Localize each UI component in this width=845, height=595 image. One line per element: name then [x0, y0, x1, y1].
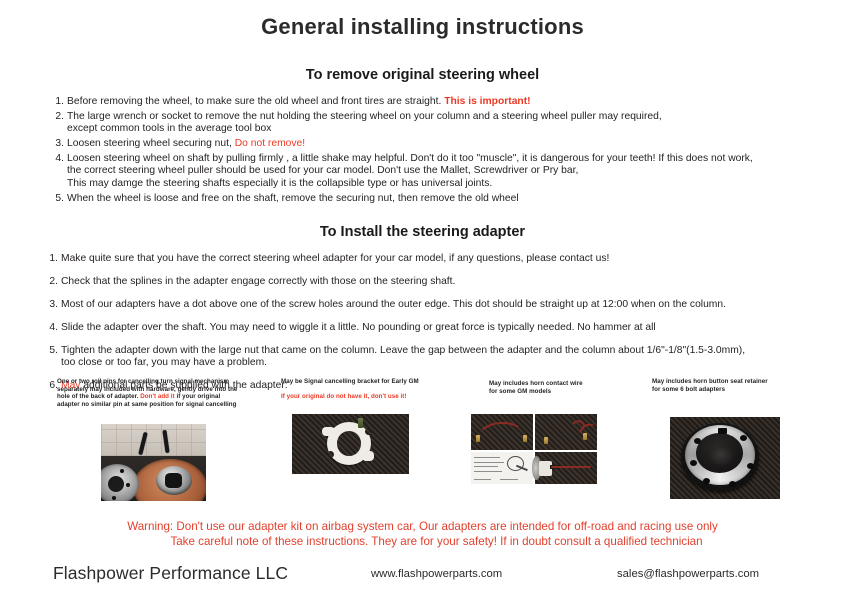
emphasis-text: If your original do not have it, don't u… — [281, 393, 406, 400]
page-title: General installing instructions — [0, 0, 845, 40]
caption-horn-contact-wire: May includes horn contact wirefor some G… — [489, 380, 669, 395]
desk-surface — [101, 424, 206, 456]
footer: Flashpower Performance LLC www.flashpowe… — [0, 563, 845, 593]
photo-quadrant — [535, 452, 597, 484]
instruction-card — [471, 452, 533, 484]
retainer-slot — [718, 428, 727, 434]
list-item: 3.Most of our adapters have a dot above … — [44, 299, 805, 311]
remove-wheel-steps: 1.Before removing the wheel, to make sur… — [50, 96, 805, 205]
list-number: 5. — [44, 345, 58, 357]
emphasis-text: Don't add it — [140, 393, 176, 400]
photo-quadrant — [535, 414, 597, 450]
wire-terminal — [544, 437, 548, 444]
bracket-tab — [322, 427, 335, 436]
email-link[interactable]: sales@flashpowerparts.com — [617, 568, 759, 580]
panel-roll-pins: One or two roll pins for cancelling turn… — [57, 378, 272, 408]
bolt-hole — [747, 463, 754, 469]
list-number: 3. — [44, 299, 58, 311]
list-number: 4. — [44, 322, 58, 334]
panel-horn-contact-wire: May includes horn contact wirefor some G… — [489, 380, 669, 395]
wire-terminal — [583, 433, 587, 440]
warning-line-2: Take careful note of these instructions.… — [0, 534, 845, 549]
bracket-tab — [362, 451, 374, 461]
bolt-hole — [690, 460, 697, 466]
parts-panels: One or two roll pins for cancelling turn… — [0, 376, 845, 511]
list-number: 3. — [50, 138, 64, 150]
list-number: 1. — [50, 96, 64, 108]
instruction-sheet: General installing instructions To remov… — [0, 0, 845, 595]
section-heading-remove-wheel: To remove original steering wheel — [0, 40, 845, 83]
company-name: Flashpower Performance LLC — [53, 563, 288, 584]
list-item: 5.When the wheel is loose and free on th… — [50, 193, 805, 205]
adapter-flange — [101, 464, 139, 501]
list-number: 5. — [50, 193, 64, 205]
list-item: 4.Loosen steering wheel on shaft by pull… — [50, 153, 805, 189]
photo-quadrant — [471, 414, 533, 450]
safety-warning: Warning: Don't use our adapter kit on ai… — [0, 519, 845, 549]
wire-terminal — [476, 435, 480, 442]
adapter-hub — [156, 466, 192, 495]
list-item: 1.Before removing the wheel, to make sur… — [50, 96, 805, 108]
bracket-hole — [365, 428, 372, 435]
emphasis-text: This is important! — [444, 96, 530, 107]
red-wire — [551, 466, 591, 468]
caption-horn-button-seat-retainer: May includes horn button seat retainerfo… — [652, 378, 842, 393]
list-number: 2. — [44, 276, 58, 288]
bolt-hole — [703, 478, 710, 484]
caption-signal-bracket: May be Signal cancelling bracket for Ear… — [281, 378, 471, 401]
list-number: 1. — [44, 253, 58, 265]
bracket-screw — [358, 418, 363, 428]
caption-roll-pins: One or two roll pins for cancelling turn… — [57, 378, 272, 408]
photo-signal-cancelling-bracket — [292, 414, 409, 474]
panel-signal-bracket: May be Signal cancelling bracket for Ear… — [281, 378, 471, 401]
photo-roll-pins-and-adapters — [101, 424, 206, 501]
install-adapter-steps: 1.Make quite sure that you have the corr… — [44, 253, 805, 393]
list-item: 2.Check that the splines in the adapter … — [44, 276, 805, 288]
emphasis-text: Do not remove! — [235, 138, 305, 149]
retainer-center-boss — [710, 447, 733, 465]
list-item: 2.The large wrench or socket to remove t… — [50, 111, 805, 135]
list-number: 4. — [50, 153, 64, 165]
website-link[interactable]: www.flashpowerparts.com — [371, 568, 502, 580]
photo-horn-button-seat-retainer — [667, 414, 783, 502]
red-wire — [476, 420, 526, 453]
section-heading-install-adapter: To Install the steering adapter — [0, 208, 845, 240]
list-item: 3.Loosen steering wheel securing nut, Do… — [50, 138, 805, 150]
warning-line-1: Warning: Don't use our adapter kit on ai… — [0, 519, 845, 534]
list-number: 2. — [50, 111, 64, 123]
list-item: 1.Make quite sure that you have the corr… — [44, 253, 805, 265]
list-item: 5.Tighten the adapter down with the larg… — [44, 345, 805, 369]
panel-horn-button-seat-retainer: May includes horn button seat retainerfo… — [652, 378, 842, 393]
wire-terminal — [523, 435, 527, 442]
photo-horn-contact-wire — [471, 414, 597, 484]
list-item: 4.Slide the adapter over the shaft. You … — [44, 322, 805, 334]
